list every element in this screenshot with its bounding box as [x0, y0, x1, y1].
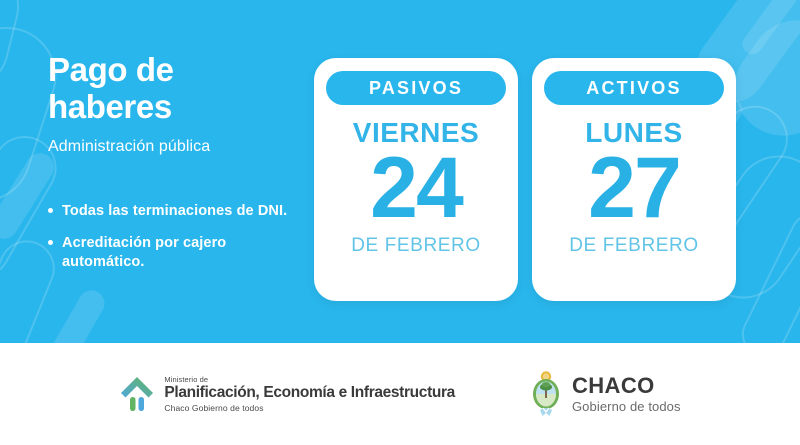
list-item: Acreditación por cajero automático. — [48, 234, 303, 272]
month-label: DE FEBRERO — [351, 236, 481, 255]
decorative-capsule-icon — [738, 0, 800, 58]
chaco-title: CHACO — [572, 375, 681, 397]
ministry-logo-text: Ministerio de Planificación, Economía e … — [164, 376, 455, 412]
decorative-capsule-icon — [0, 0, 28, 97]
headline-block: Pago de haberes Administración pública T… — [48, 52, 303, 285]
decorative-capsule-icon — [734, 206, 800, 343]
ministry-line-2: Planificación, Economía e Infraestructur… — [164, 384, 455, 401]
chaco-tagline: Gobierno de todos — [572, 400, 681, 413]
day-number: 27 — [588, 149, 680, 228]
chaco-logo: CHACO Gobierno de todos — [529, 370, 681, 418]
ministry-logo: Ministerio de Planificación, Economía e … — [119, 373, 455, 415]
page-title: Pago de haberes — [48, 52, 303, 126]
bullet-list: Todas las terminaciones de DNI. Acredita… — [48, 202, 303, 272]
house-arrow-icon — [119, 373, 155, 415]
ministry-line-3: Chaco Gobierno de todos — [164, 404, 455, 413]
bullet-dot-icon — [48, 240, 53, 245]
poster: Pago de haberes Administración pública T… — [0, 0, 800, 445]
list-item-label: Todas las terminaciones de DNI. — [62, 203, 287, 219]
title-line-1: Pago de — [48, 51, 174, 88]
ministry-line-1: Ministerio de — [164, 376, 455, 384]
list-item-label: Acreditación por cajero automático. — [62, 235, 226, 270]
decorative-capsule-icon — [41, 286, 110, 343]
status-badge: PASIVOS — [326, 71, 506, 105]
chaco-logo-text: CHACO Gobierno de todos — [572, 375, 681, 413]
day-number: 24 — [370, 149, 462, 228]
date-card-pasivos: PASIVOS VIERNES 24 DE FEBRERO — [314, 58, 518, 301]
title-line-2: haberes — [48, 88, 172, 125]
list-item: Todas las terminaciones de DNI. — [48, 202, 303, 221]
footer: Ministerio de Planificación, Economía e … — [0, 343, 800, 445]
page-subtitle: Administración pública — [48, 138, 303, 156]
bullet-dot-icon — [48, 208, 53, 213]
date-cards: PASIVOS VIERNES 24 DE FEBRERO ACTIVOS LU… — [314, 58, 736, 301]
status-badge: ACTIVOS — [544, 71, 724, 105]
month-label: DE FEBRERO — [569, 236, 699, 255]
date-card-activos: ACTIVOS LUNES 27 DE FEBRERO — [532, 58, 736, 301]
chaco-coat-of-arms-icon — [529, 370, 563, 418]
